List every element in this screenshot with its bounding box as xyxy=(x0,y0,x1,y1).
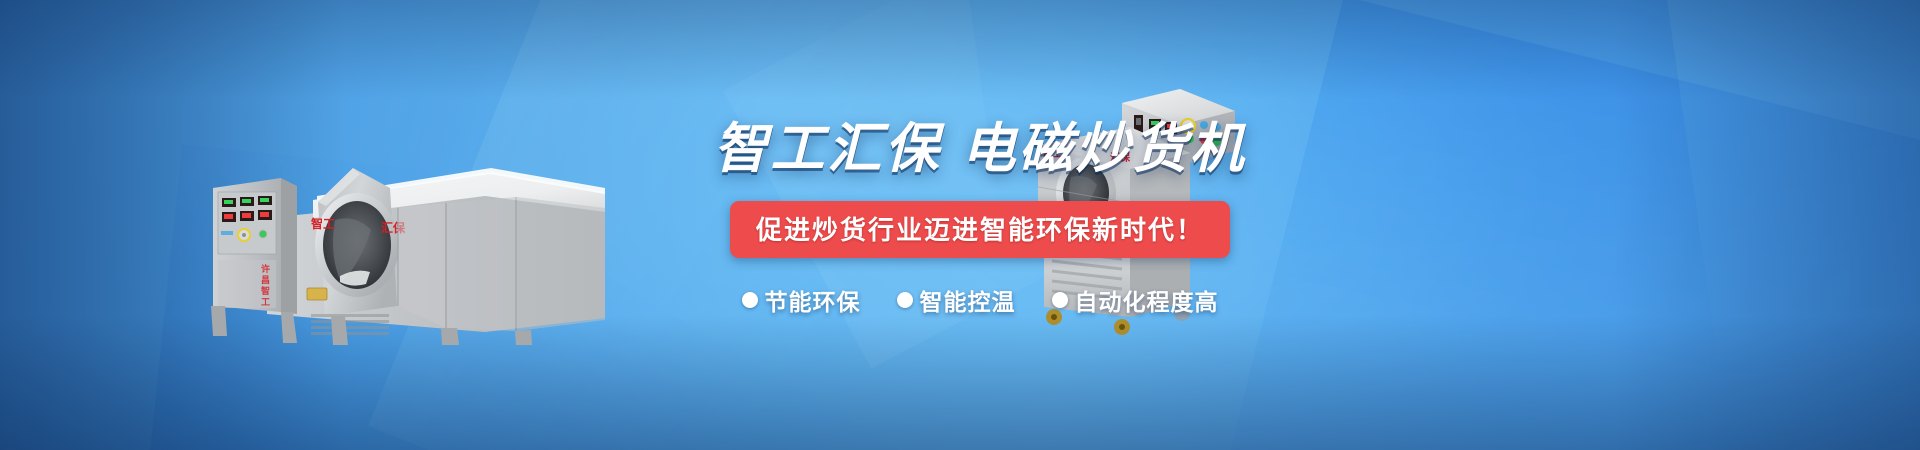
feature-item-automation: 自动化程度高 xyxy=(1052,283,1219,317)
feature-item-smart-temperature: 智能控温 xyxy=(897,283,1016,317)
display-5-readout xyxy=(242,213,251,218)
power-indicator-lamp xyxy=(259,230,267,238)
display-3-readout xyxy=(260,198,269,202)
leg-1 xyxy=(281,312,297,343)
control-cabinet-side xyxy=(281,178,297,314)
machine-image-left: 智工 汇保 许 xyxy=(185,100,605,345)
roaster-large-illustration: 智工 汇保 许 xyxy=(185,100,605,345)
cabinet-text-line: 昌 xyxy=(261,275,270,286)
display-2-readout xyxy=(242,199,251,203)
caster-hub-2 xyxy=(1119,324,1125,330)
bullet-dot-icon xyxy=(742,292,758,308)
headline: 智工汇保电磁炒货机 xyxy=(700,120,1260,177)
display-4-readout xyxy=(224,214,233,219)
headline-part-1: 智工汇保 xyxy=(714,117,942,180)
leg-4 xyxy=(515,330,532,345)
cabinet-text-line: 许 xyxy=(261,263,270,275)
bullet-dot-icon xyxy=(897,292,913,308)
rating-plate xyxy=(307,288,327,300)
display-6-readout xyxy=(260,212,269,217)
slogan-ribbon: 促进炒货行业迈进智能环保新时代！ xyxy=(730,201,1230,258)
cabinet-text-line: 工 xyxy=(261,297,270,308)
body-door-2 xyxy=(447,197,515,331)
feature-label: 节能环保 xyxy=(765,283,861,317)
ribbon-wrapper: 促进炒货行业迈进智能环保新时代！ xyxy=(700,201,1260,258)
promo-banner: 智工 汇保 许 xyxy=(0,0,1920,450)
leg-5 xyxy=(211,306,227,336)
feature-label: 自动化程度高 xyxy=(1075,283,1219,317)
bullet-dot-icon xyxy=(1052,292,1068,308)
feature-list: 节能环保 智能控温 自动化程度高 xyxy=(700,283,1260,317)
feature-label: 智能控温 xyxy=(920,283,1016,317)
headline-part-2: 电磁炒货机 xyxy=(962,117,1247,180)
body-door-1 xyxy=(398,203,445,328)
panel-label-strip xyxy=(221,231,233,235)
selector-knob-center xyxy=(242,233,246,237)
leg-3 xyxy=(441,328,459,345)
display-1-readout xyxy=(224,200,233,204)
machine-brand-left-zhigong: 智工 xyxy=(310,216,335,231)
body-door-3 xyxy=(517,197,605,331)
banner-copy: 智工汇保电磁炒货机 促进炒货行业迈进智能环保新时代！ 节能环保 智能控温 自动化… xyxy=(700,120,1260,317)
feature-item-energy-saving: 节能环保 xyxy=(742,283,861,317)
cabinet-text-line: 智 xyxy=(261,285,270,297)
